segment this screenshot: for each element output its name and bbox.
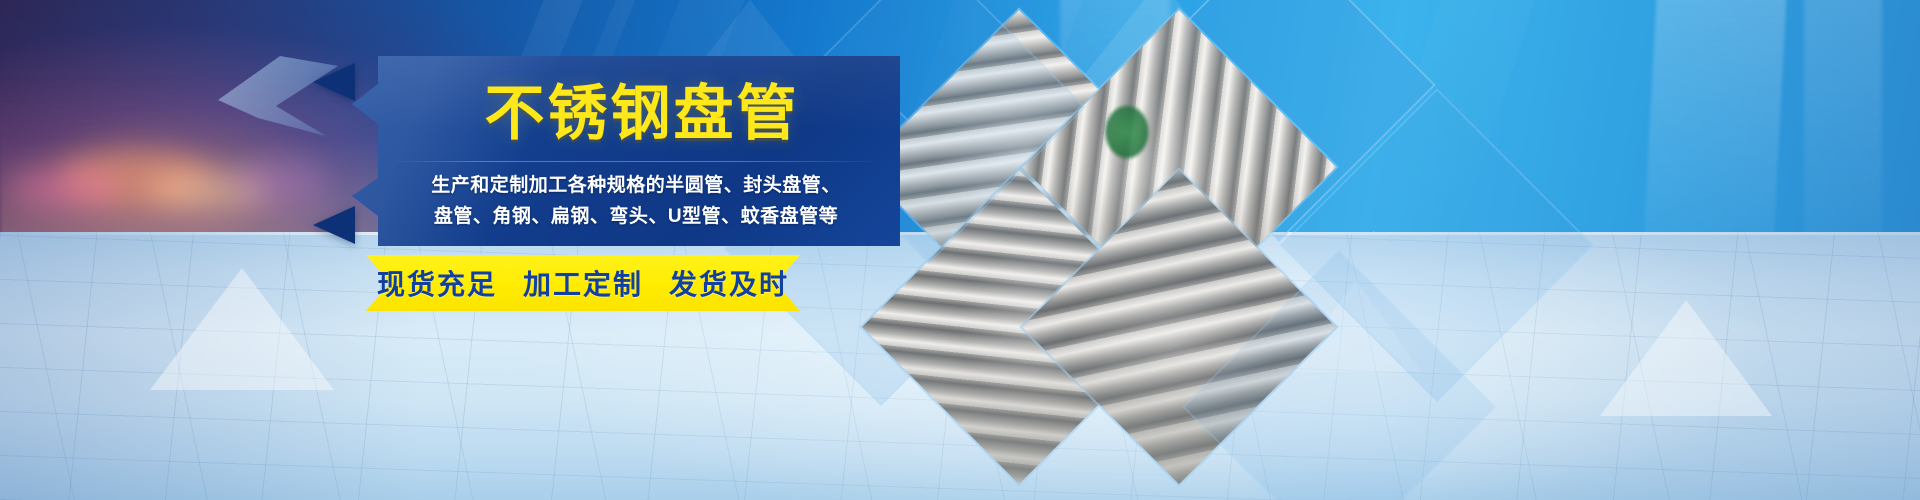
glass-tower-right <box>1643 0 1787 250</box>
subtitle-line-1: 生产和定制加工各种规格的半圆管、封头盘管、 <box>376 170 896 197</box>
ribbon-divider <box>392 161 884 162</box>
highlight-item-1: 现货充足 <box>377 263 497 303</box>
ribbon-tail-top <box>313 63 355 101</box>
city-light-blob <box>236 160 326 206</box>
page-title: 不锈钢盘管 <box>392 84 892 144</box>
highlight-bar-text: 现货充足 加工定制 发货及时 <box>366 255 800 311</box>
decor-triangle-foreground <box>1600 300 1772 416</box>
promo-banner: 不锈钢盘管 生产和定制加工各种规格的半圆管、封头盘管、 盘管、角钢、扁钢、弯头、… <box>0 0 1920 500</box>
product-photo-diamond-grid <box>830 0 1450 500</box>
highlight-item-2: 加工定制 <box>523 263 643 303</box>
city-light-blob <box>10 168 120 208</box>
decor-triangle-foreground <box>150 268 334 390</box>
ribbon-tail-bottom <box>313 206 355 244</box>
highlight-item-3: 发货及时 <box>669 263 789 303</box>
subtitle-line-2: 盘管、角钢、扁钢、弯头、U型管、蚊香盘管等 <box>376 201 896 228</box>
